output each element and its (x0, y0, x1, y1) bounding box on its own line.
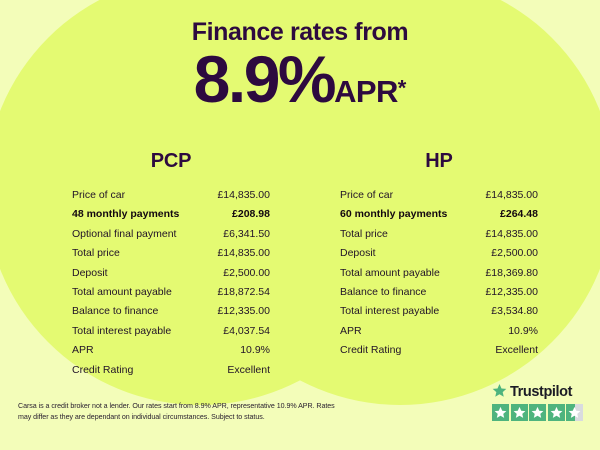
finance-column-pcp: PCP Price of car £14,835.00 48 monthly p… (50, 150, 292, 380)
table-row: Balance to finance £12,335.00 (340, 283, 538, 302)
finance-rows-pcp: Price of car £14,835.00 48 monthly payme… (50, 186, 292, 380)
row-value: 10.9% (508, 322, 538, 341)
table-row: Total price £14,835.00 (72, 244, 270, 263)
table-row: Deposit £2,500.00 (340, 244, 538, 263)
trustpilot-star-tile (511, 404, 528, 421)
table-row: Total interest payable £3,534.80 (340, 302, 538, 321)
row-label: Balance to finance (72, 302, 158, 321)
table-row: Balance to finance £12,335.00 (72, 302, 270, 321)
trustpilot-star-icon (492, 383, 507, 403)
finance-rows-hp: Price of car £14,835.00 60 monthly payme… (318, 186, 560, 361)
row-label: Total price (72, 244, 120, 263)
row-value: £6,341.50 (223, 225, 270, 244)
row-label: 60 monthly payments (340, 205, 447, 224)
table-row: Total amount payable £18,369.80 (340, 264, 538, 283)
row-value: £14,835.00 (217, 244, 270, 263)
table-row: Deposit £2,500.00 (72, 264, 270, 283)
table-row: Optional final payment £6,341.50 (72, 225, 270, 244)
row-value: Excellent (227, 361, 270, 380)
row-value: £14,835.00 (485, 186, 538, 205)
rate-unit: APR (334, 74, 398, 109)
row-label: APR (72, 341, 94, 360)
table-row: Credit Rating Excellent (72, 361, 270, 380)
table-row: Credit Rating Excellent (340, 341, 538, 360)
table-row: 60 monthly payments £264.48 (340, 205, 538, 224)
row-value: £12,335.00 (485, 283, 538, 302)
row-value: £18,872.54 (217, 283, 270, 302)
rate-value: 8.9% (194, 42, 334, 116)
row-value: £4,037.54 (223, 322, 270, 341)
rate-footnote-asterisk: * (398, 76, 407, 101)
row-label: Price of car (72, 186, 125, 205)
trustpilot-star-tile (529, 404, 546, 421)
row-label: Total price (340, 225, 388, 244)
row-label: 48 monthly payments (72, 205, 179, 224)
finance-rates-card: Finance rates from 8.9%APR* PCP Price of… (0, 0, 600, 450)
row-value: 10.9% (240, 341, 270, 360)
trustpilot-badge[interactable]: Trustpilot (492, 384, 590, 421)
row-label: Credit Rating (72, 361, 133, 380)
trustpilot-rating-stars (492, 404, 590, 421)
table-row: Price of car £14,835.00 (72, 186, 270, 205)
row-value: £14,835.00 (217, 186, 270, 205)
row-label: APR (340, 322, 362, 341)
row-label: Deposit (340, 244, 376, 263)
row-label: Total amount payable (340, 264, 440, 283)
row-value: £264.48 (500, 205, 538, 224)
row-label: Deposit (72, 264, 108, 283)
row-value: £18,369.80 (485, 264, 538, 283)
row-value: £2,500.00 (223, 264, 270, 283)
trustpilot-star-tile (492, 404, 509, 421)
row-value: £2,500.00 (491, 244, 538, 263)
table-row: APR 10.9% (72, 341, 270, 360)
row-label: Total interest payable (72, 322, 171, 341)
table-row: Total amount payable £18,872.54 (72, 283, 270, 302)
row-label: Optional final payment (72, 225, 176, 244)
table-row: 48 monthly payments £208.98 (72, 205, 270, 224)
trustpilot-name: Trustpilot (510, 385, 572, 400)
table-row: Total interest payable £4,037.54 (72, 322, 270, 341)
table-row: Price of car £14,835.00 (340, 186, 538, 205)
row-label: Credit Rating (340, 341, 401, 360)
table-row: APR 10.9% (340, 322, 538, 341)
row-label: Balance to finance (340, 283, 426, 302)
trustpilot-wordmark: Trustpilot (492, 384, 590, 401)
row-value: £14,835.00 (485, 225, 538, 244)
finance-column-hp: HP Price of car £14,835.00 60 monthly pa… (318, 150, 560, 361)
table-row: Total price £14,835.00 (340, 225, 538, 244)
row-value: £3,534.80 (491, 302, 538, 321)
row-value: £12,335.00 (217, 302, 270, 321)
row-label: Price of car (340, 186, 393, 205)
column-title-hp: HP (318, 150, 560, 173)
trustpilot-star-tile (548, 404, 565, 421)
row-label: Total interest payable (340, 302, 439, 321)
column-title-pcp: PCP (50, 150, 292, 173)
row-label: Total amount payable (72, 283, 172, 302)
row-value: £208.98 (232, 205, 270, 224)
legal-disclaimer: Carsa is a credit broker not a lender. O… (18, 401, 348, 422)
trustpilot-star-tile (566, 404, 583, 421)
headline-rate: 8.9%APR* (0, 46, 600, 112)
row-value: Excellent (495, 341, 538, 360)
